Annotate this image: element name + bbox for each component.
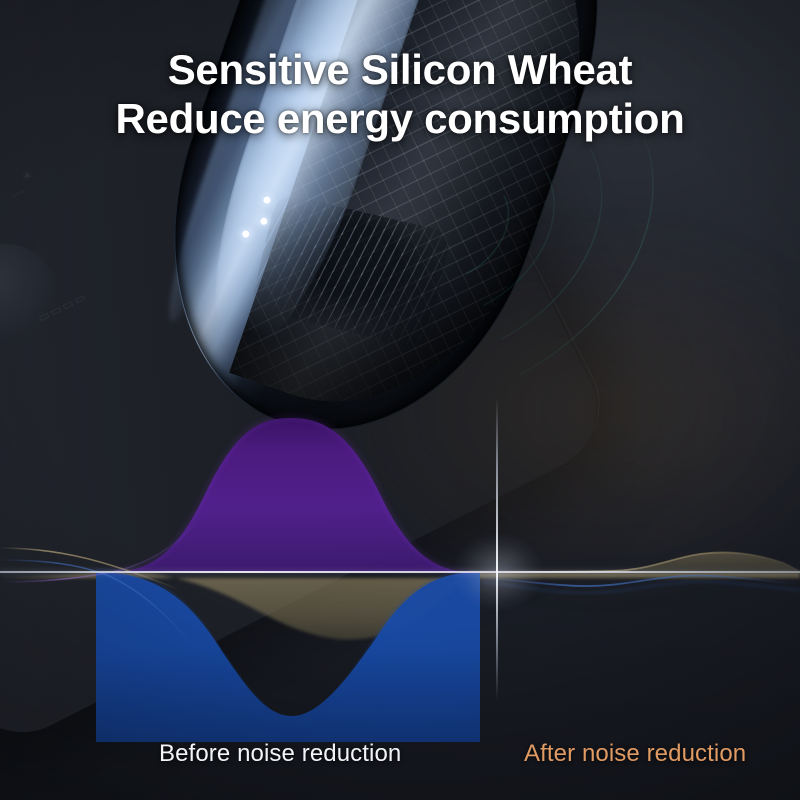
headline-line-2: Reduce energy consumption [0, 95, 800, 144]
caption-after-noise-reduction: After noise reduction [524, 740, 746, 768]
product-feature-image: ✳ ▫▫▫ ▭▭▭▭ [0, 0, 800, 800]
headline-line-1: Sensitive Silicon Wheat [168, 46, 633, 93]
caption-before-noise-reduction: Before noise reduction [159, 740, 401, 768]
headline: Sensitive Silicon Wheat Reduce energy co… [0, 46, 800, 143]
